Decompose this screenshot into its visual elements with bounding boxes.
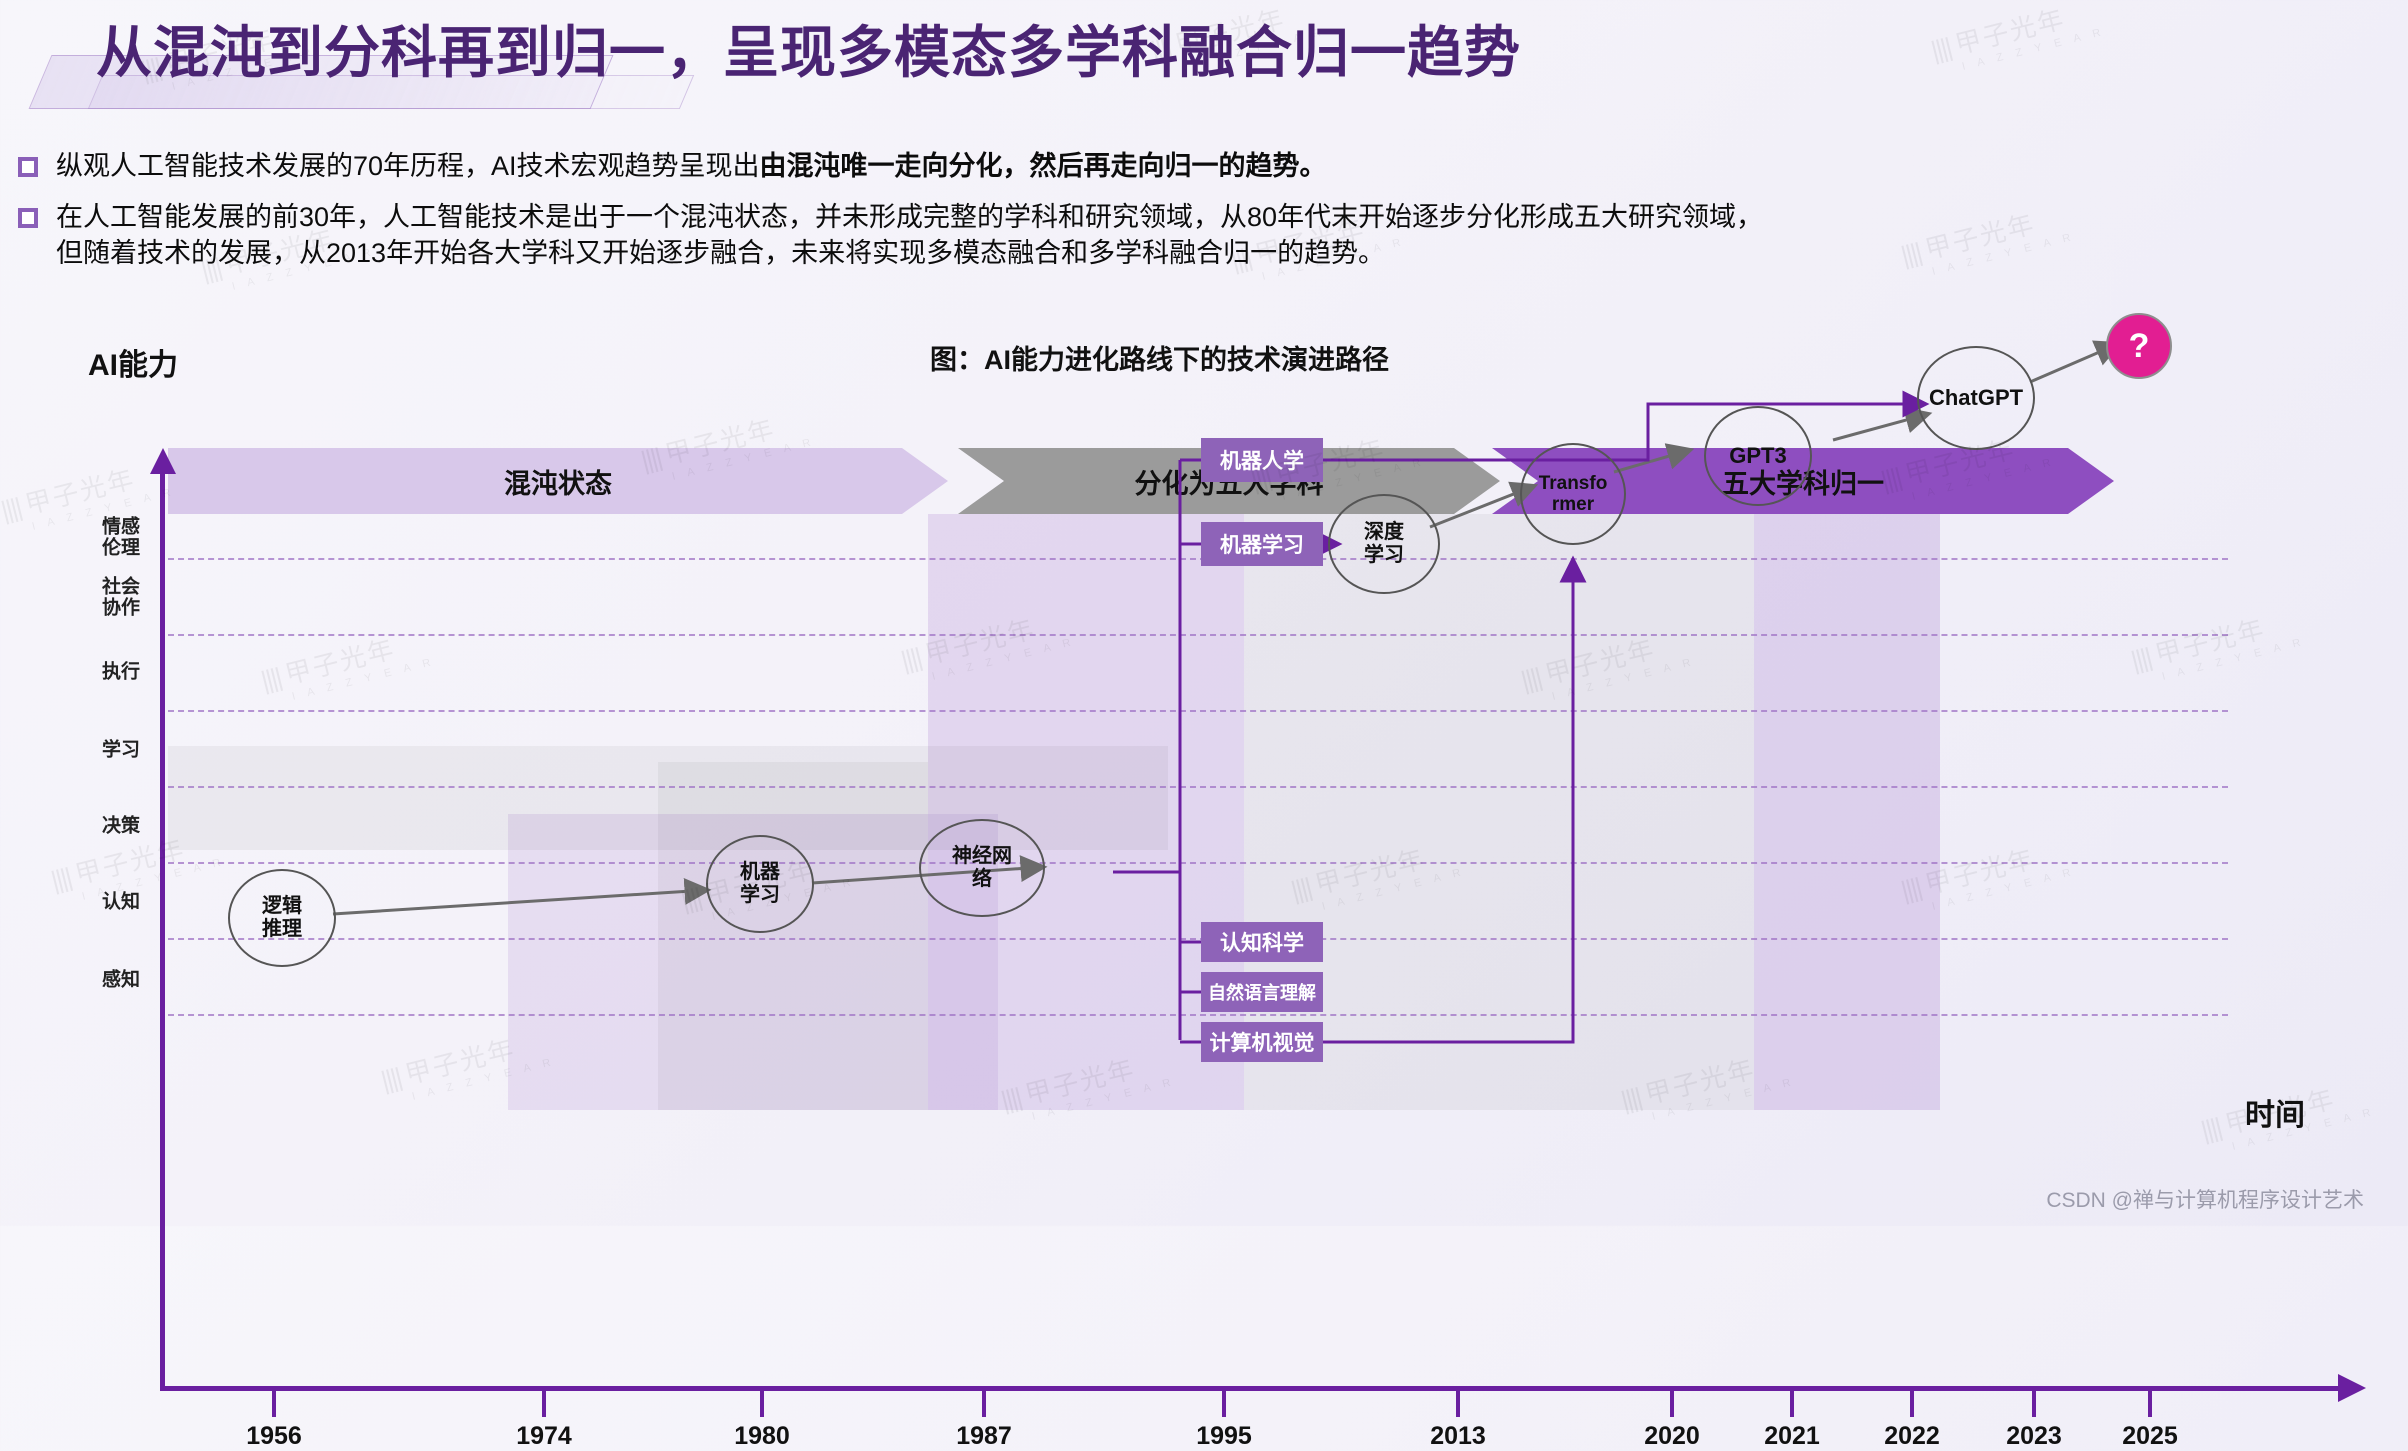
edge-dl-to-transformer <box>1430 486 1534 527</box>
x-tick-label-1995: 1995 <box>1196 1422 1252 1451</box>
x-tick-mark <box>272 1391 276 1417</box>
evolution-diagram: AI能力 图：AI能力进化路线下的技术演进路径 时间 混沌状态 分化为五大学科 … <box>0 330 2408 1226</box>
x-tick-mark <box>2032 1391 2036 1417</box>
x-tick-mark <box>1456 1391 1460 1417</box>
node-logic-reasoning[interactable]: 逻辑推理 <box>228 869 336 967</box>
bullet-2-line-2: 但随着技术的发展，从2013年开始各大学科又开始逐步融合，未来将实现多模态融合和… <box>56 235 1763 272</box>
x-tick-mark <box>982 1391 986 1417</box>
edge-cv-to-transformer <box>1295 560 1573 1042</box>
x-tick-mark <box>1790 1391 1794 1417</box>
x-tick-mark <box>542 1391 546 1417</box>
x-tick-mark <box>1670 1391 1674 1417</box>
bullet-text-2: 在人工智能发展的前30年，人工智能技术是出于一个混沌状态，并未形成完整的学科和研… <box>56 199 1763 272</box>
node-machine-learning-early[interactable]: 机器学习 <box>706 835 814 933</box>
bullet-2-line-1: 在人工智能发展的前30年，人工智能技术是出于一个混沌状态，并未形成完整的学科和研… <box>56 199 1763 236</box>
edge-robotics-to-chatgpt <box>1295 404 1925 460</box>
x-tick-label-1987: 1987 <box>956 1422 1012 1451</box>
edge-logic-to-ml1 <box>333 890 707 914</box>
edge-chatgpt-to-future <box>2030 344 2118 382</box>
node-computer-vision[interactable]: 计算机视觉 <box>1201 1022 1323 1062</box>
x-tick-mark <box>1910 1391 1914 1417</box>
x-axis-line <box>160 1386 2340 1391</box>
edge-gpt3-to-chatgpt <box>1833 414 1928 440</box>
x-tick-label-2023: 2023 <box>2006 1422 2062 1451</box>
node-cognitive-science[interactable]: 认知科学 <box>1201 922 1323 962</box>
node-deep-learning[interactable]: 深度学习 <box>1328 494 1440 594</box>
node-robotics[interactable]: 机器人学 <box>1201 438 1323 482</box>
x-tick-label-2022: 2022 <box>1884 1422 1940 1451</box>
node-machine-learning[interactable]: 机器学习 <box>1201 522 1323 566</box>
node-transformer[interactable]: Transformer <box>1520 443 1626 545</box>
page-title: 从混沌到分科再到归一，呈现多模态多学科融合归一趋势 <box>96 8 1521 89</box>
bullet-square-icon <box>18 208 38 228</box>
x-tick-mark <box>760 1391 764 1417</box>
x-tick-label-2020: 2020 <box>1644 1422 1700 1451</box>
x-tick-mark <box>1222 1391 1226 1417</box>
node-gpt3[interactable]: GPT3 <box>1704 406 1812 506</box>
x-tick-label-2025: 2025 <box>2122 1422 2178 1451</box>
credit-watermark: CSDN @禅与计算机程序设计艺术 <box>2046 1184 2364 1214</box>
x-axis-arrow-icon <box>2338 1374 2366 1402</box>
bullet-square-icon <box>18 157 38 177</box>
list-item: 纵观人工智能技术发展的70年历程，AI技术宏观趋势呈现出由混沌唯一走向分化，然后… <box>18 148 2398 185</box>
x-tick-label-1980: 1980 <box>734 1422 790 1451</box>
bullet-list: 纵观人工智能技术发展的70年历程，AI技术宏观趋势呈现出由混沌唯一走向分化，然后… <box>18 148 2398 286</box>
edge-nn-trunk-up <box>1113 460 1180 872</box>
watermark: ||||甲子光年I A Z Z Y E A R <box>1927 0 2107 79</box>
x-tick-mark <box>2148 1391 2152 1417</box>
x-tick-label-2021: 2021 <box>1764 1422 1820 1451</box>
node-chatgpt[interactable]: ChatGPT <box>1917 346 2035 450</box>
bullet-text-1: 纵观人工智能技术发展的70年历程，AI技术宏观趋势呈现出由混沌唯一走向分化，然后… <box>56 148 1327 185</box>
x-tick-label-1974: 1974 <box>516 1422 572 1451</box>
node-nlu[interactable]: 自然语言理解 <box>1201 972 1323 1012</box>
bullet-1-bold: 由混沌唯一走向分化，然后再走向归一的趋势。 <box>760 151 1327 181</box>
node-neural-network[interactable]: 神经网络 <box>919 819 1045 917</box>
x-tick-label-1956: 1956 <box>246 1422 302 1451</box>
bullet-1-plain: 纵观人工智能技术发展的70年历程，AI技术宏观趋势呈现出 <box>56 151 760 181</box>
list-item: 在人工智能发展的前30年，人工智能技术是出于一个混沌状态，并未形成完整的学科和研… <box>18 199 2398 272</box>
node-future-question[interactable]: ? <box>2106 313 2172 379</box>
x-tick-label-2013: 2013 <box>1430 1422 1486 1451</box>
